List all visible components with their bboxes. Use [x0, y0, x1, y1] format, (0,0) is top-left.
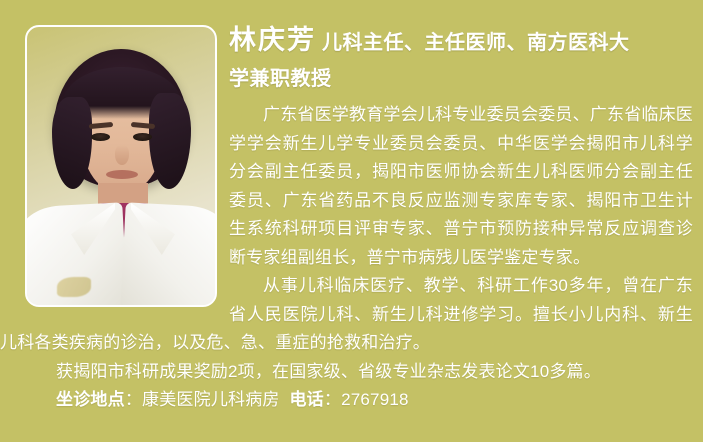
doctor-titles-line-2: 学兼职教授 [229, 68, 332, 90]
doctor-titles-line-1: 儿科主任、主任医师、南方医科大 [322, 32, 630, 54]
phone-separator: ： [324, 390, 341, 409]
clinic-location-label: 坐诊地点 [56, 390, 125, 409]
contact-line: 坐诊地点：康美医院儿科病房 电话：2767918 [22, 386, 693, 415]
doctor-portrait-frame [25, 25, 217, 307]
portrait-eye-right [133, 133, 152, 141]
portrait-coat-emblem-icon [57, 277, 91, 297]
portrait-eye-left [91, 133, 110, 141]
clinic-location-separator: ： [125, 390, 142, 409]
clinic-location-value: 康美医院儿科病房 [142, 390, 280, 409]
doctor-footer: 获揭阳市科研成果奖励2项，在国家级、省级专业杂志发表论文10多篇。 坐诊地点：康… [0, 358, 703, 415]
doctor-portrait-image [27, 27, 215, 305]
phone-value: 2767918 [341, 390, 409, 409]
doctor-profile-card: 林庆芳儿科主任、主任医师、南方医科大学兼职教授 广东省医学教育学会儿科专业委员会… [0, 0, 703, 442]
portrait-mouth [106, 170, 138, 179]
portrait-coat-right [120, 202, 215, 305]
bio-paragraph-awards: 获揭阳市科研成果奖励2项，在国家级、省级专业杂志发表论文10多篇。 [22, 358, 693, 387]
portrait-nose [115, 145, 129, 165]
doctor-name: 林庆芳 [229, 25, 316, 55]
portrait-hair-right [149, 93, 191, 189]
phone-label: 电话 [289, 390, 323, 409]
